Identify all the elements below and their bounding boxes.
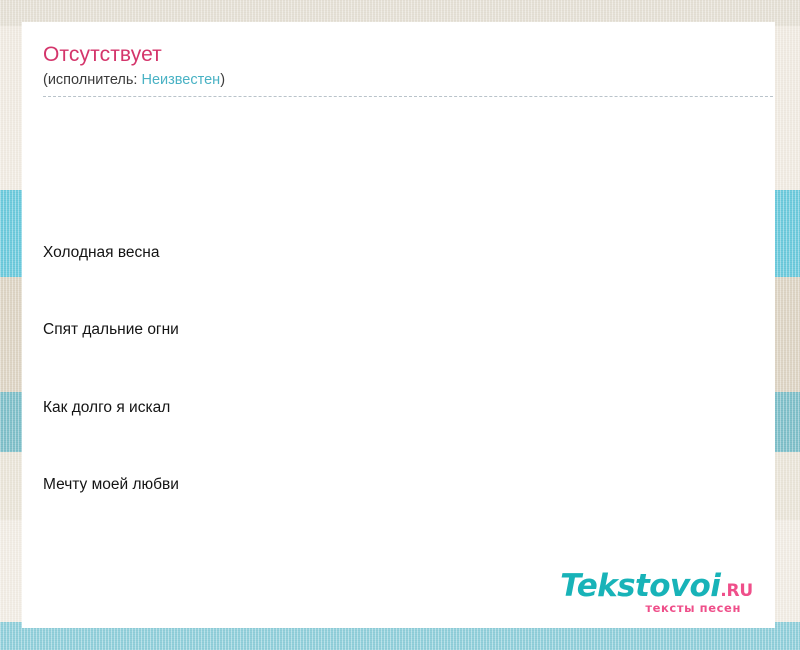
- lyric-line: Как долго я искал: [43, 395, 761, 421]
- logo-wordmark: Tekstovoi: [560, 571, 720, 602]
- lyrics-card: Отсутствует (исполнитель: Неизвестен) Хо…: [22, 22, 775, 628]
- header-divider: [43, 96, 775, 97]
- artist-line: (исполнитель: Неизвестен): [43, 71, 761, 89]
- site-logo[interactable]: Tekstovoi.RU тексты песен: [560, 571, 753, 615]
- lyrics-stanza: Холодная весна Спят дальние огни Как дол…: [43, 188, 761, 549]
- artist-label: (исполнитель:: [43, 72, 141, 88]
- lyric-line: Спят дальние огни: [43, 317, 761, 343]
- lyric-line: Холодная весна: [43, 240, 761, 266]
- lyric-line: Мечту моей любви: [43, 472, 761, 498]
- lyrics-body: Холодная весна Спят дальние огни Как дол…: [43, 111, 761, 628]
- page-root: Отсутствует (исполнитель: Неизвестен) Хо…: [0, 0, 800, 650]
- logo-tagline: тексты песен: [560, 603, 741, 615]
- page-title: Отсутствует: [43, 42, 761, 68]
- artist-suffix: ): [220, 72, 225, 88]
- artist-link[interactable]: Неизвестен: [141, 72, 220, 88]
- logo-tld: .RU: [720, 581, 753, 601]
